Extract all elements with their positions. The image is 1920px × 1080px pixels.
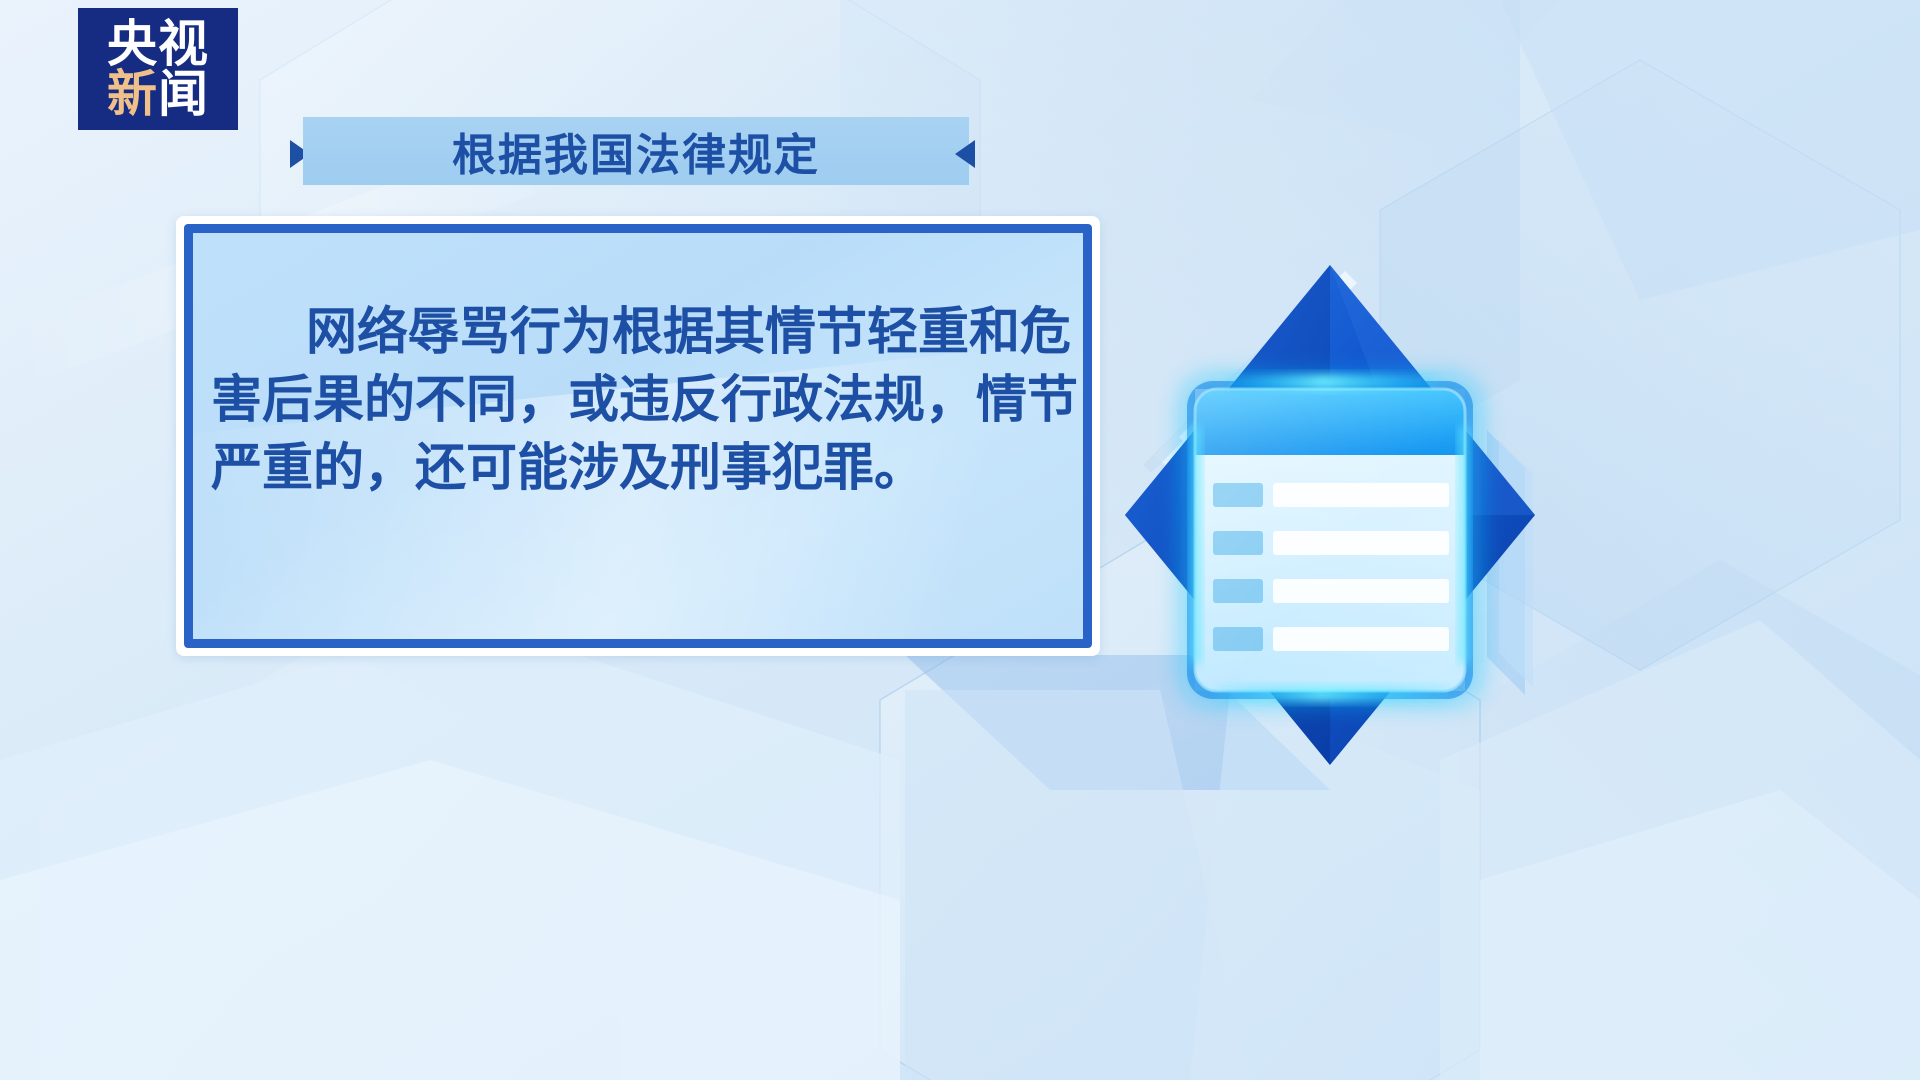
logo-text-wen: 闻 <box>158 69 209 119</box>
body-paragraph: 网络辱骂行为根据其情节轻重和危害后果的不同，或违反行政法规，情节严重的，还可能涉… <box>211 299 1081 503</box>
logo-text-xin: 新 <box>107 69 158 119</box>
logo-line-bottom: 新 闻 <box>78 69 238 119</box>
glowing-document-diamond-icon <box>1095 225 1565 815</box>
content-card-inner: 网络辱骂行为根据其情节轻重和危害后果的不同，或违反行政法规，情节严重的，还可能涉… <box>184 224 1092 648</box>
logo-text-yangshi: 央视 <box>107 19 209 69</box>
right-triangle-marker-icon <box>955 140 975 168</box>
content-card: 网络辱骂行为根据其情节轻重和危害后果的不同，或违反行政法规，情节严重的，还可能涉… <box>176 216 1100 656</box>
logo-line-top: 央视 <box>78 19 238 69</box>
cctv-news-logo: 央视 新 闻 <box>78 8 238 130</box>
infographic-canvas: 央视 新 闻 根据我国法律规定 网络辱骂行为根据其情节轻重和危害后果的不同，或违… <box>0 0 1920 1080</box>
title-banner: 根据我国法律规定 <box>303 117 969 185</box>
page-title: 根据我国法律规定 <box>452 119 820 183</box>
